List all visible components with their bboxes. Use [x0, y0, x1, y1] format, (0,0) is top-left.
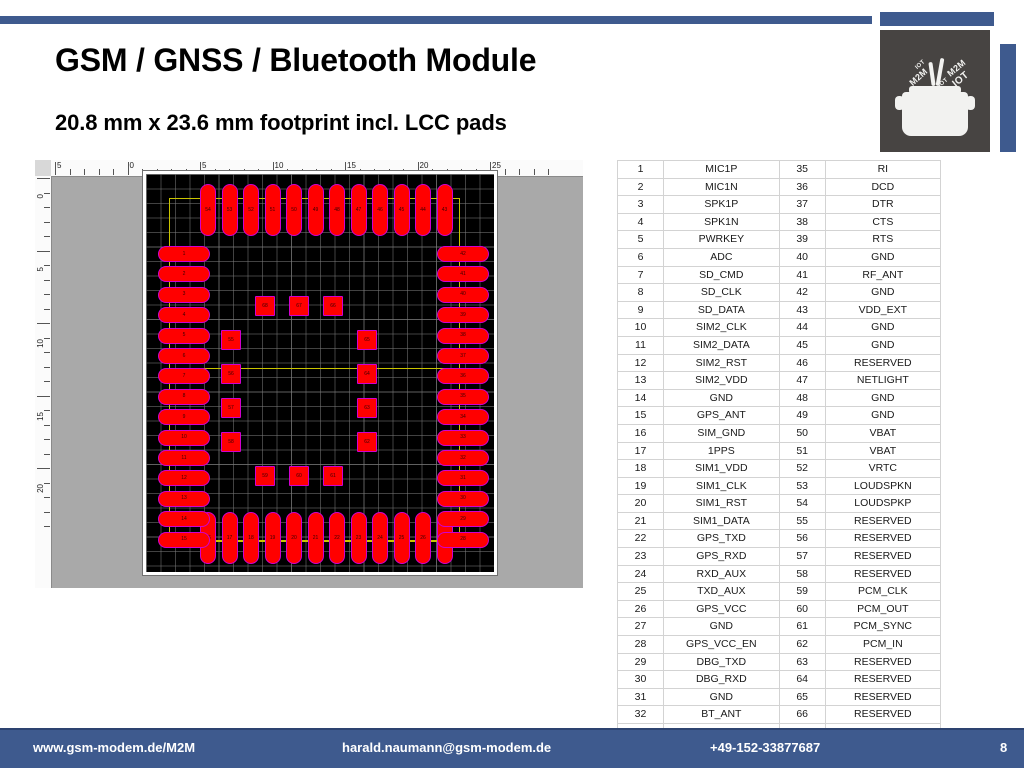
table-row: 24RXD_AUX58RESERVED: [618, 565, 941, 583]
pcb-pad-2: 2: [158, 266, 210, 282]
pcb-pad-10: 10: [158, 430, 210, 446]
pcb-pad-25: 25: [394, 512, 410, 564]
pin-name-left: GPS_ANT: [664, 407, 780, 425]
pin-name-right: LOUDSPKP: [825, 495, 940, 513]
pcb-pad-18: 18: [243, 512, 259, 564]
table-row: 171PPS51VBAT: [618, 442, 941, 460]
pcb-pad-1: 1: [158, 246, 210, 262]
ruler-label: 0: [130, 161, 134, 170]
ruler-tick-major: [128, 162, 129, 175]
pin-number-left: 27: [618, 618, 664, 636]
footer-page-number: 8: [1000, 740, 1007, 755]
pin-name-right: RESERVED: [825, 653, 940, 671]
pin-name-right: VDD_EXT: [825, 301, 940, 319]
pcb-pad-68: 68: [255, 296, 275, 316]
pin-name-right: GND: [825, 319, 940, 337]
pcb-pad-55: 55: [221, 330, 241, 350]
pin-number-left: 29: [618, 653, 664, 671]
pin-number-left: 26: [618, 600, 664, 618]
table-row: 14GND48GND: [618, 389, 941, 407]
ruler-label: 25: [492, 161, 501, 170]
pin-number-right: 55: [779, 512, 825, 530]
pin-number-right: 44: [779, 319, 825, 337]
ruler-vertical: 05101520: [35, 176, 52, 588]
table-row: 21SIM1_DATA55RESERVED: [618, 512, 941, 530]
pin-number-right: 62: [779, 636, 825, 654]
pcb-pad-5: 5: [158, 328, 210, 344]
table-row: 8SD_CLK42GND: [618, 284, 941, 302]
pcb-pad-38: 38: [437, 328, 489, 344]
ruler-tick-minor: [44, 381, 50, 382]
pin-name-right: RESERVED: [825, 530, 940, 548]
pin-name-left: ADC: [664, 248, 780, 266]
ruler-tick-minor: [44, 367, 50, 368]
ruler-tick-major: [37, 323, 50, 324]
pin-number-left: 22: [618, 530, 664, 548]
pcb-pad-30: 30: [437, 491, 489, 507]
footer-divider: [0, 728, 1024, 730]
pcb-pad-28: 28: [437, 532, 489, 548]
pin-number-left: 20: [618, 495, 664, 513]
ruler-tick-minor: [44, 236, 50, 237]
pin-name-left: GPS_VCC: [664, 600, 780, 618]
pin-name-left: DBG_RXD: [664, 671, 780, 689]
pcb-pad-43: 43: [437, 184, 453, 236]
ruler-label: 20: [420, 161, 429, 170]
ruler-tick-minor: [44, 512, 50, 513]
table-row: 13SIM2_VDD47NETLIGHT: [618, 372, 941, 390]
table-row: 26GPS_VCC60PCM_OUT: [618, 600, 941, 618]
pin-name-left: MIC1P: [664, 161, 780, 179]
pin-name-right: LOUDSPKN: [825, 477, 940, 495]
pin-name-left: SIM1_RST: [664, 495, 780, 513]
table-row: 4SPK1N38CTS: [618, 213, 941, 231]
pin-number-left: 11: [618, 336, 664, 354]
table-row: 15GPS_ANT49GND: [618, 407, 941, 425]
ruler-tick-minor: [44, 454, 50, 455]
pin-number-right: 48: [779, 389, 825, 407]
pcb-pad-64: 64: [357, 364, 377, 384]
table-row: 25TXD_AUX59PCM_CLK: [618, 583, 941, 601]
pin-name-left: SIM_GND: [664, 424, 780, 442]
pcb-pad-11: 11: [158, 450, 210, 466]
pin-number-right: 49: [779, 407, 825, 425]
pin-number-left: 12: [618, 354, 664, 372]
pcb-pad-50: 50: [286, 184, 302, 236]
outline-line: [169, 368, 460, 369]
pin-number-right: 54: [779, 495, 825, 513]
ruler-label: 5: [202, 161, 206, 170]
pcb-pad-42: 42: [437, 246, 489, 262]
pin-number-right: 61: [779, 618, 825, 636]
page-subtitle: 20.8 mm x 23.6 mm footprint incl. LCC pa…: [55, 110, 507, 136]
pin-number-left: 4: [618, 213, 664, 231]
pin-number-left: 7: [618, 266, 664, 284]
pin-name-right: DCD: [825, 178, 940, 196]
pcb-canvas: 5453525150494847464544431617181920212223…: [146, 174, 494, 572]
pcb-pad-19: 19: [265, 512, 281, 564]
pin-name-right: PCM_SYNC: [825, 618, 940, 636]
footer-email-link[interactable]: harald.naumann@gsm-modem.de: [342, 740, 551, 755]
pin-name-left: SD_CMD: [664, 266, 780, 284]
pin-name-right: GND: [825, 248, 940, 266]
table-row: 18SIM1_VDD52VRTC: [618, 460, 941, 478]
ruler-tick-major: [37, 468, 50, 469]
pin-number-right: 59: [779, 583, 825, 601]
pin-number-right: 57: [779, 548, 825, 566]
pcb-pad-54: 54: [200, 184, 216, 236]
ruler-corner: [35, 160, 52, 177]
pin-name-left: BT_ANT: [664, 706, 780, 724]
pcb-pad-39: 39: [437, 307, 489, 323]
pin-name-left: 1PPS: [664, 442, 780, 460]
pin-number-left: 10: [618, 319, 664, 337]
pcb-pad-34: 34: [437, 409, 489, 425]
pin-name-left: SPK1P: [664, 196, 780, 214]
pin-name-right: DTR: [825, 196, 940, 214]
pcb-pad-17: 17: [222, 512, 238, 564]
slide-footer: www.gsm-modem.de/M2M harald.naumann@gsm-…: [0, 728, 1024, 768]
table-row: 22GPS_TXD56RESERVED: [618, 530, 941, 548]
pin-name-right: VBAT: [825, 442, 940, 460]
pin-name-right: PCM_OUT: [825, 600, 940, 618]
pcb-pad-37: 37: [437, 348, 489, 364]
pin-number-left: 19: [618, 477, 664, 495]
pcb-pad-36: 36: [437, 368, 489, 384]
ruler-tick-minor: [44, 222, 50, 223]
pin-name-left: PWRKEY: [664, 231, 780, 249]
footer-website-link[interactable]: www.gsm-modem.de/M2M: [33, 740, 195, 755]
ruler-tick-major: [37, 251, 50, 252]
pcb-pad-65: 65: [357, 330, 377, 350]
pin-name-right: RESERVED: [825, 565, 940, 583]
pcb-footprint-viewer: 50510152025 05101520 5453525150494847464…: [35, 160, 583, 588]
pin-name-left: GPS_TXD: [664, 530, 780, 548]
pin-number-left: 3: [618, 196, 664, 214]
ruler-tick-minor: [44, 483, 50, 484]
ruler-tick-minor: [519, 169, 520, 175]
table-row: 29DBG_TXD63RESERVED: [618, 653, 941, 671]
pcb-pad-24: 24: [372, 512, 388, 564]
pin-number-right: 60: [779, 600, 825, 618]
pin-name-left: SPK1N: [664, 213, 780, 231]
pin-number-left: 28: [618, 636, 664, 654]
ruler-label: 5: [36, 267, 45, 271]
ruler-tick-minor: [84, 169, 85, 175]
header-accent-bar: [0, 16, 872, 24]
pcb-pad-3: 3: [158, 287, 210, 303]
pin-number-left: 23: [618, 548, 664, 566]
pcb-pad-13: 13: [158, 491, 210, 507]
pin-name-left: TXD_AUX: [664, 583, 780, 601]
ruler-tick-minor: [44, 425, 50, 426]
pcb-pad-56: 56: [221, 364, 241, 384]
ruler-tick-minor: [99, 169, 100, 175]
table-row: 32BT_ANT66RESERVED: [618, 706, 941, 724]
footer-phone-number: +49-152-33877687: [710, 740, 820, 755]
pin-number-left: 8: [618, 284, 664, 302]
pin-name-left: SIM2_VDD: [664, 372, 780, 390]
table-row: 9SD_DATA43VDD_EXT: [618, 301, 941, 319]
pcb-pad-62: 62: [357, 432, 377, 452]
pcb-pad-49: 49: [308, 184, 324, 236]
pin-name-right: GND: [825, 284, 940, 302]
pcb-pad-20: 20: [286, 512, 302, 564]
pcb-pad-45: 45: [394, 184, 410, 236]
ruler-tick-minor: [44, 294, 50, 295]
pcb-pad-15: 15: [158, 532, 210, 548]
pin-number-right: 42: [779, 284, 825, 302]
pin-name-left: SIM1_CLK: [664, 477, 780, 495]
table-row: 12SIM2_RST46RESERVED: [618, 354, 941, 372]
pin-name-left: SIM1_VDD: [664, 460, 780, 478]
table-row: 20SIM1_RST54LOUDSPKP: [618, 495, 941, 513]
pin-name-right: NETLIGHT: [825, 372, 940, 390]
table-row: 16SIM_GND50VBAT: [618, 424, 941, 442]
ruler-label: 20: [36, 484, 45, 493]
ruler-tick-minor: [44, 265, 50, 266]
ruler-tick-minor: [44, 309, 50, 310]
ruler-tick-minor: [113, 169, 114, 175]
pin-name-right: GND: [825, 336, 940, 354]
pin-number-left: 30: [618, 671, 664, 689]
ruler-tick-major: [37, 396, 50, 397]
pin-name-left: GND: [664, 688, 780, 706]
pin-name-left: GND: [664, 389, 780, 407]
ruler-tick-minor: [44, 280, 50, 281]
ruler-tick-minor: [44, 410, 50, 411]
pin-number-left: 16: [618, 424, 664, 442]
pcb-pad-44: 44: [415, 184, 431, 236]
steam-icon: [928, 62, 935, 86]
pin-number-left: 2: [618, 178, 664, 196]
pin-name-right: CTS: [825, 213, 940, 231]
table-row: 28GPS_VCC_EN62PCM_IN: [618, 636, 941, 654]
pin-name-right: RF_ANT: [825, 266, 940, 284]
pin-number-left: 31: [618, 688, 664, 706]
pin-number-right: 43: [779, 301, 825, 319]
table-row: 11SIM2_DATA45GND: [618, 336, 941, 354]
pin-name-right: RESERVED: [825, 671, 940, 689]
pin-name-left: RXD_AUX: [664, 565, 780, 583]
company-logo: M2M IOT M2M IOT IOT: [880, 30, 990, 152]
pcb-pad-26: 26: [415, 512, 431, 564]
pcb-pad-12: 12: [158, 470, 210, 486]
ruler-label: 15: [36, 412, 45, 421]
ruler-tick-minor: [44, 526, 50, 527]
table-row: 5PWRKEY39RTS: [618, 231, 941, 249]
pin-number-left: 5: [618, 231, 664, 249]
pin-name-right: VRTC: [825, 460, 940, 478]
pcb-pad-35: 35: [437, 389, 489, 405]
pin-number-left: 1: [618, 161, 664, 179]
table-row: 10SIM2_CLK44GND: [618, 319, 941, 337]
ruler-tick-minor: [44, 497, 50, 498]
pin-name-left: SIM2_CLK: [664, 319, 780, 337]
ruler-label: 0: [36, 194, 45, 198]
pcb-pad-67: 67: [289, 296, 309, 316]
pin-name-left: DBG_TXD: [664, 653, 780, 671]
pin-name-right: PCM_CLK: [825, 583, 940, 601]
pin-number-left: 17: [618, 442, 664, 460]
ruler-tick-minor: [44, 207, 50, 208]
pin-name-left: SD_CLK: [664, 284, 780, 302]
ruler-tick-minor: [44, 338, 50, 339]
pin-name-left: GPS_RXD: [664, 548, 780, 566]
pin-number-left: 21: [618, 512, 664, 530]
pin-number-right: 66: [779, 706, 825, 724]
pin-name-right: RTS: [825, 231, 940, 249]
table-row: 19SIM1_CLK53LOUDSPKN: [618, 477, 941, 495]
pcb-pad-58: 58: [221, 432, 241, 452]
pin-name-right: PCM_IN: [825, 636, 940, 654]
pin-number-right: 53: [779, 477, 825, 495]
ruler-tick-minor: [70, 169, 71, 175]
pcb-pad-31: 31: [437, 470, 489, 486]
pin-number-right: 64: [779, 671, 825, 689]
pin-number-left: 13: [618, 372, 664, 390]
pcb-pad-63: 63: [357, 398, 377, 418]
pin-number-right: 41: [779, 266, 825, 284]
pin-number-right: 47: [779, 372, 825, 390]
pin-name-left: SIM1_DATA: [664, 512, 780, 530]
page-title: GSM / GNSS / Bluetooth Module: [55, 42, 536, 79]
pcb-pad-14: 14: [158, 511, 210, 527]
pin-name-right: GND: [825, 389, 940, 407]
ruler-tick-minor: [534, 169, 535, 175]
pin-name-right: RESERVED: [825, 688, 940, 706]
pin-number-left: 32: [618, 706, 664, 724]
pin-name-right: RESERVED: [825, 354, 940, 372]
pin-name-right: RESERVED: [825, 512, 940, 530]
pot-icon: [902, 92, 968, 136]
pcb-pad-21: 21: [308, 512, 324, 564]
table-row: 31GND65RESERVED: [618, 688, 941, 706]
pin-number-left: 14: [618, 389, 664, 407]
pin-number-right: 52: [779, 460, 825, 478]
pcb-pad-61: 61: [323, 466, 343, 486]
pin-number-left: 15: [618, 407, 664, 425]
pin-number-right: 40: [779, 248, 825, 266]
pcb-pad-22: 22: [329, 512, 345, 564]
pin-number-left: 9: [618, 301, 664, 319]
pcb-pad-32: 32: [437, 450, 489, 466]
table-row: 30DBG_RXD64RESERVED: [618, 671, 941, 689]
pcb-pad-59: 59: [255, 466, 275, 486]
table-row: 2MIC1N36DCD: [618, 178, 941, 196]
ruler-tick-major: [37, 178, 50, 179]
ruler-tick-minor: [44, 439, 50, 440]
pin-number-right: 50: [779, 424, 825, 442]
courtyard-outline: [169, 198, 460, 541]
pin-name-right: RESERVED: [825, 548, 940, 566]
pin-table-body: 1MIC1P35RI2MIC1N36DCD3SPK1P37DTR4SPK1N38…: [618, 161, 941, 759]
pin-number-right: 56: [779, 530, 825, 548]
pin-number-right: 36: [779, 178, 825, 196]
table-row: 7SD_CMD41RF_ANT: [618, 266, 941, 284]
pin-number-right: 63: [779, 653, 825, 671]
ruler-tick-major: [55, 162, 56, 175]
table-row: 6ADC40GND: [618, 248, 941, 266]
ruler-tick-minor: [505, 169, 506, 175]
pin-number-right: 38: [779, 213, 825, 231]
pin-number-right: 65: [779, 688, 825, 706]
pcb-pad-7: 7: [158, 368, 210, 384]
pin-name-left: SD_DATA: [664, 301, 780, 319]
pcb-pad-60: 60: [289, 466, 309, 486]
pcb-pad-52: 52: [243, 184, 259, 236]
pin-name-left: GPS_VCC_EN: [664, 636, 780, 654]
pin-number-right: 46: [779, 354, 825, 372]
pin-number-left: 18: [618, 460, 664, 478]
table-row: 27GND61PCM_SYNC: [618, 618, 941, 636]
ruler-label: 15: [347, 161, 356, 170]
pcb-pad-23: 23: [351, 512, 367, 564]
ruler-tick-minor: [44, 193, 50, 194]
ruler-tick-minor: [548, 169, 549, 175]
pcb-pad-66: 66: [323, 296, 343, 316]
pcb-pad-53: 53: [222, 184, 238, 236]
pcb-pad-51: 51: [265, 184, 281, 236]
pcb-pad-6: 6: [158, 348, 210, 364]
pcb-pad-47: 47: [351, 184, 367, 236]
ruler-label: 5: [57, 161, 61, 170]
pin-number-right: 45: [779, 336, 825, 354]
pin-name-right: RI: [825, 161, 940, 179]
pcb-pad-29: 29: [437, 511, 489, 527]
table-row: 3SPK1P37DTR: [618, 196, 941, 214]
pin-number-right: 58: [779, 565, 825, 583]
pcb-pad-33: 33: [437, 430, 489, 446]
table-row: 1MIC1P35RI: [618, 161, 941, 179]
pcb-pad-40: 40: [437, 287, 489, 303]
pin-name-right: VBAT: [825, 424, 940, 442]
pin-number-left: 6: [618, 248, 664, 266]
pcb-canvas-frame: 5453525150494847464544431617181920212223…: [142, 170, 498, 576]
logo-accent-bar: [880, 12, 994, 26]
right-side-accent-bar: [1000, 44, 1016, 152]
pin-name-left: MIC1N: [664, 178, 780, 196]
pin-number-right: 39: [779, 231, 825, 249]
pin-number-left: 24: [618, 565, 664, 583]
pin-number-left: 25: [618, 583, 664, 601]
ruler-label: 10: [275, 161, 284, 170]
pcb-pad-46: 46: [372, 184, 388, 236]
pcb-pad-9: 9: [158, 409, 210, 425]
ruler-label: 10: [36, 339, 45, 348]
pin-name-left: SIM2_DATA: [664, 336, 780, 354]
pcb-pad-4: 4: [158, 307, 210, 323]
pin-name-left: SIM2_RST: [664, 354, 780, 372]
table-row: 23GPS_RXD57RESERVED: [618, 548, 941, 566]
pin-assignment-table: 1MIC1P35RI2MIC1N36DCD3SPK1P37DTR4SPK1N38…: [617, 160, 941, 759]
ruler-tick-minor: [44, 352, 50, 353]
pin-number-right: 51: [779, 442, 825, 460]
pcb-pad-48: 48: [329, 184, 345, 236]
pin-number-right: 35: [779, 161, 825, 179]
pcb-pad-57: 57: [221, 398, 241, 418]
pin-number-right: 37: [779, 196, 825, 214]
pin-name-left: GND: [664, 618, 780, 636]
pin-name-right: RESERVED: [825, 706, 940, 724]
pcb-pad-8: 8: [158, 389, 210, 405]
pin-name-right: GND: [825, 407, 940, 425]
pcb-pad-41: 41: [437, 266, 489, 282]
